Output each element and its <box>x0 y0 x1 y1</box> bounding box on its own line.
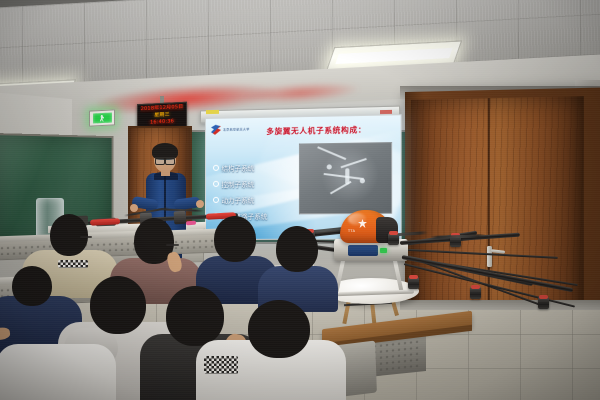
presenter-left-hand <box>130 204 138 212</box>
jacket-pattern <box>204 356 238 374</box>
student-head <box>12 266 52 306</box>
motor-cap <box>471 285 480 289</box>
drone-battery-pack <box>348 245 378 256</box>
wireframe-node <box>345 169 349 185</box>
slide-logo-text: 北京航空航天大学 <box>223 127 250 131</box>
classroom-photo: 2018年12月05日 星期三 16:40:36 <box>0 0 600 400</box>
drone-status-led <box>380 248 387 253</box>
student-front-grey <box>0 330 116 400</box>
slide-drone-photo <box>299 142 392 214</box>
presenter-right-hand <box>196 200 204 208</box>
emergency-exit-sign <box>89 109 115 126</box>
bullet-ring-icon <box>213 197 219 203</box>
student-head <box>276 226 318 272</box>
student-head <box>90 276 146 334</box>
glasses-icon <box>166 244 179 246</box>
bullet-ring-icon <box>213 165 219 171</box>
presenter-glasses-icon <box>155 157 175 163</box>
motor-cap <box>539 295 548 299</box>
slide-title: 多旋翼无人机子系统构成： <box>266 124 366 137</box>
wireframe-line <box>317 146 346 159</box>
drone-landing-leg <box>392 257 403 293</box>
student-white-jacket <box>196 300 346 400</box>
student-head <box>214 216 256 262</box>
light-tube <box>336 48 453 65</box>
drone-landing-skid <box>330 290 414 297</box>
drone-arm-brace <box>408 249 558 259</box>
student-head <box>50 214 88 256</box>
motor-cap <box>389 231 398 235</box>
wireframe-node <box>327 165 332 170</box>
slide-bullet-item: 动力子系统 <box>213 194 267 204</box>
slide-bullet-label: 动力子系统 <box>221 195 254 205</box>
wireframe-node <box>360 178 365 183</box>
drone-brand-text: TTA <box>348 229 355 233</box>
slide-university-logo: 北京航空航天大学 <box>211 124 250 135</box>
slide-bullet-item: 控制子系统 <box>213 178 267 189</box>
motor-cap <box>409 275 418 279</box>
drone-motor <box>538 297 549 309</box>
bullet-ring-icon <box>213 181 219 187</box>
slide-bullet-item: 结构子系统 <box>213 162 267 173</box>
drone-motor <box>388 233 399 245</box>
glasses-icon <box>80 236 92 238</box>
student-dark-blue <box>258 226 338 308</box>
drone-motor <box>408 277 419 289</box>
logo-mark-icon <box>211 125 221 135</box>
student-head <box>248 300 310 358</box>
exit-sign-panel <box>93 113 112 124</box>
housing-yellow-label <box>206 110 219 114</box>
slide-bullet-label: 控制子系统 <box>221 178 254 188</box>
student-shoulders <box>0 344 116 400</box>
slide-bullet-label: 结构子系统 <box>221 162 254 172</box>
drone-motor <box>470 287 481 299</box>
running-person-icon <box>100 114 104 121</box>
wireframe-line <box>324 173 364 180</box>
